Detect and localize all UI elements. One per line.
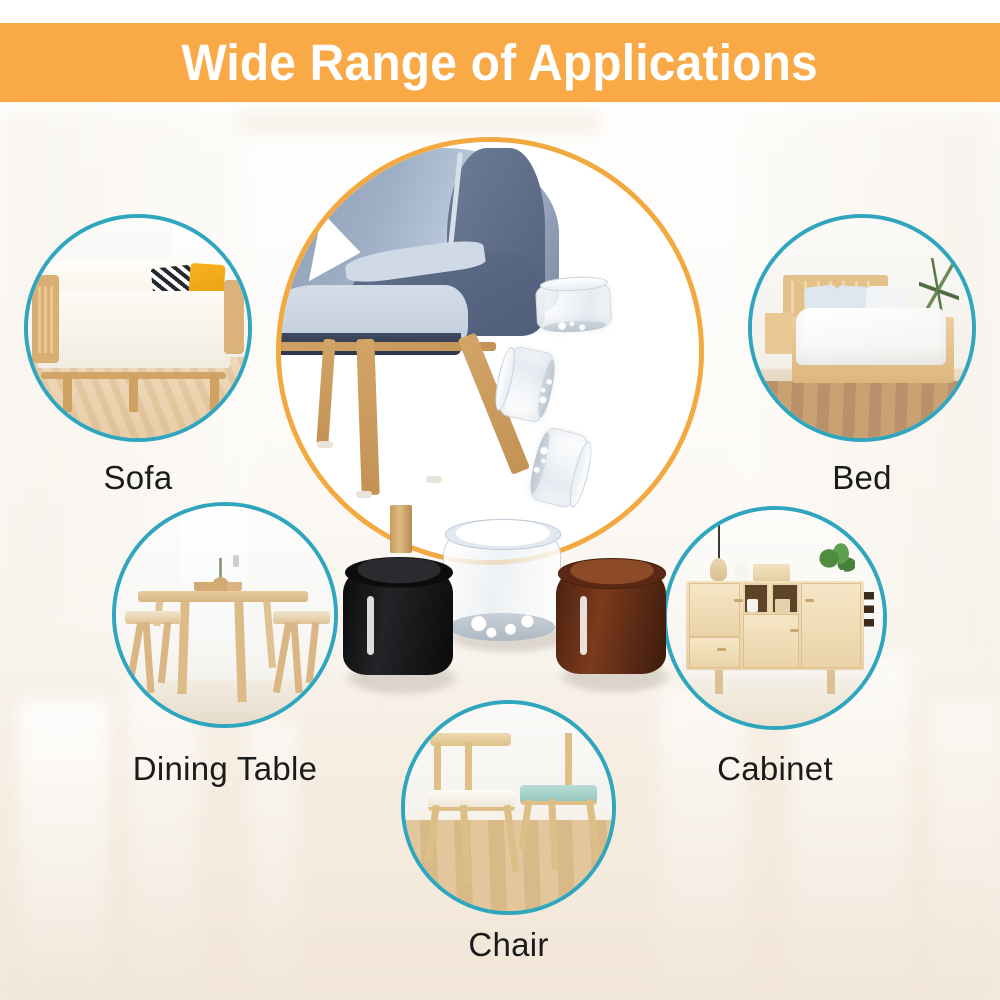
- chair-photo-circle: [401, 700, 616, 915]
- dining-chair-legs: [276, 622, 326, 693]
- sofa-scene: [28, 218, 248, 438]
- sofa-arm-left: [32, 275, 58, 363]
- armchair-foot: [426, 476, 442, 483]
- background-column: [18, 700, 110, 1000]
- product-cap-black: [343, 565, 453, 675]
- chair-legs: [426, 805, 521, 882]
- product-cap-rim: [345, 557, 453, 588]
- wood-leg-stub: [390, 505, 412, 553]
- chair-legs: [519, 799, 602, 870]
- cabinet-box: [753, 564, 790, 581]
- chair-scene: [405, 704, 612, 911]
- cabinet-cup: [734, 564, 747, 581]
- sofa-cushion: [37, 291, 231, 368]
- bed-photo-circle: [748, 214, 976, 442]
- cabinet-vase: [710, 558, 727, 582]
- background-shelf: [240, 112, 600, 138]
- cabinet-door: [801, 583, 861, 667]
- label-dining-table: Dining Table: [108, 752, 342, 785]
- cabinet-handle: [805, 599, 814, 602]
- cabinet-handle: [790, 629, 799, 632]
- label-sofa: Sofa: [24, 461, 252, 494]
- sofa-photo-circle: [24, 214, 252, 442]
- cabinet-shelf-item: [775, 599, 790, 612]
- hero-product-circle: [276, 137, 704, 565]
- cabinet-door: [743, 614, 799, 668]
- label-bed: Bed: [748, 461, 976, 494]
- sofa-leg: [210, 374, 219, 411]
- cabinet-shelf-item: [747, 599, 758, 612]
- cabinet-door: [689, 583, 741, 637]
- cabinet-leg: [827, 670, 835, 694]
- bed-duvet: [796, 308, 946, 365]
- wall-decor: [864, 592, 875, 640]
- bed-scene: [752, 218, 972, 438]
- chair-post: [565, 733, 572, 788]
- label-cabinet: Cabinet: [663, 752, 887, 785]
- product-cap-rim: [445, 519, 560, 549]
- background-column: [930, 700, 1000, 1000]
- armchair-leg: [356, 339, 379, 495]
- background-column: [660, 690, 746, 1000]
- product-cap-rim: [558, 558, 666, 588]
- product-cap-brown: [556, 566, 666, 674]
- cabinet-handle: [734, 599, 743, 602]
- bed-nightstand: [765, 313, 794, 355]
- chair-back: [517, 733, 604, 870]
- chair-front: [424, 733, 523, 882]
- label-chair: Chair: [401, 928, 616, 961]
- product-cap-highlight: [367, 596, 374, 655]
- hero-scene: [281, 142, 699, 560]
- cabinet-floor: [667, 678, 883, 726]
- cabinet-scene: [667, 510, 883, 726]
- cabinet-door: [689, 637, 741, 667]
- armchair-foot: [317, 441, 333, 448]
- header-banner: Wide Range of Applications: [0, 23, 1000, 102]
- pendant-cord: [718, 523, 720, 560]
- product-cap-highlight: [580, 596, 587, 654]
- armchair-foot: [356, 491, 372, 498]
- sofa-leg: [129, 374, 138, 411]
- leg-cap-top: [535, 278, 613, 332]
- chair-post: [465, 742, 472, 793]
- product-cap-clear: [443, 527, 561, 635]
- cabinet-handle: [717, 648, 726, 651]
- sofa-arm-right: [224, 280, 244, 355]
- chair-post: [434, 742, 441, 793]
- dining-chair-legs: [128, 622, 178, 693]
- product-infographic: Wide Range of Applications Sofa: [0, 0, 1000, 1000]
- dining-chair-right: [273, 611, 330, 694]
- page-title: Wide Range of Applications: [182, 37, 819, 88]
- bed-floor: [752, 381, 972, 438]
- dining-chair-left: [125, 611, 182, 694]
- cabinet-leg: [715, 670, 723, 694]
- sofa-leg: [63, 374, 72, 411]
